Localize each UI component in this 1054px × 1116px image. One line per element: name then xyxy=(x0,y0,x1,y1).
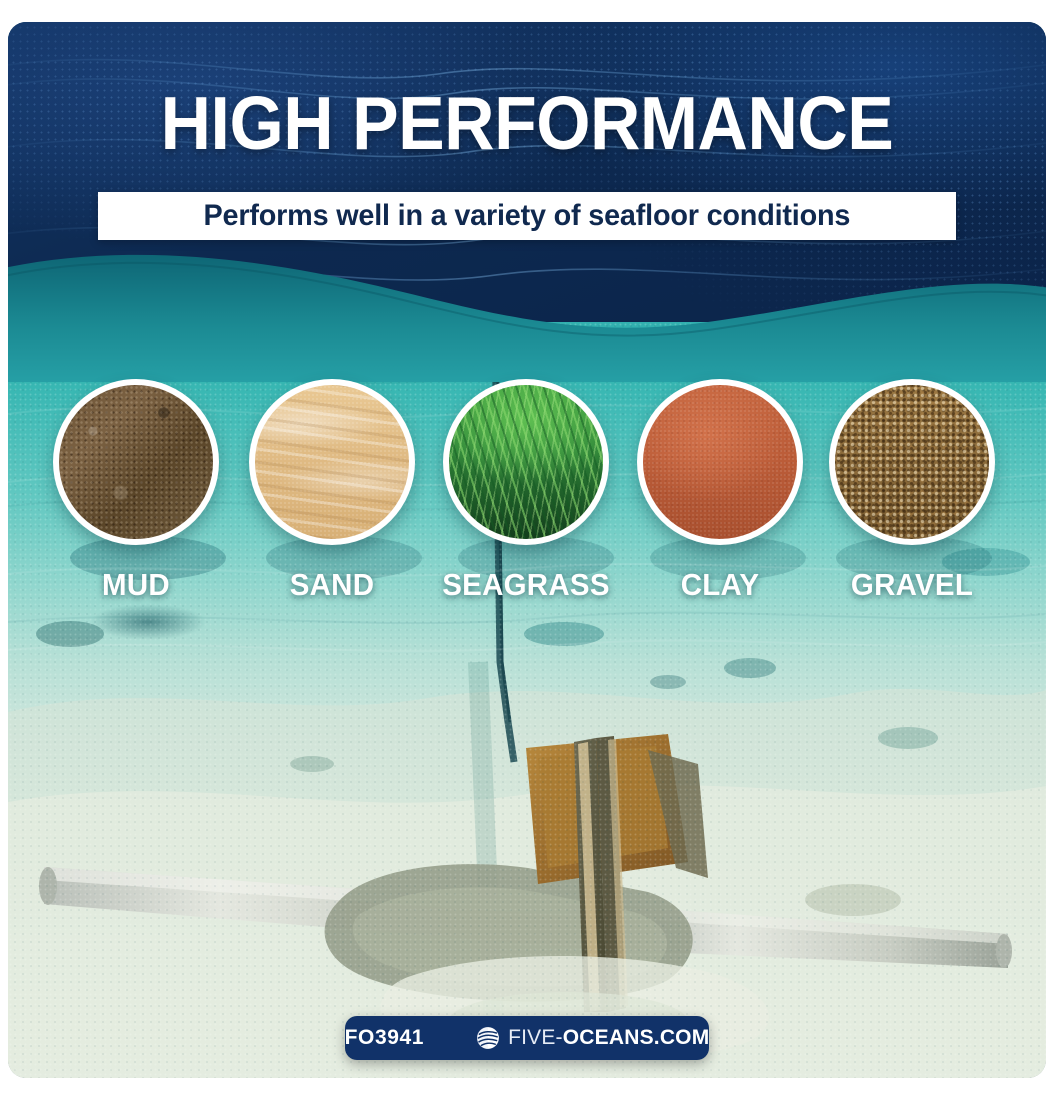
swatch-label-mud: MUD xyxy=(43,567,229,603)
gravel-texture-icon xyxy=(835,385,989,539)
swatch-label-gravel: GRAVEL xyxy=(819,567,1005,603)
sku-code: FO3941 xyxy=(345,1026,424,1050)
swatch-label-clay: CLAY xyxy=(627,567,813,603)
swatch-inner-mud xyxy=(59,385,213,539)
swatch-inner-clay xyxy=(643,385,797,539)
swatch-item-mud[interactable]: MUD xyxy=(38,379,234,603)
swatch-item-clay[interactable]: CLAY xyxy=(622,379,818,603)
page-title: HIGH PERFORMANCE xyxy=(44,84,1009,162)
swatch-disc-clay xyxy=(637,379,803,545)
brand-name-light: FIVE- xyxy=(508,1026,563,1049)
seagrass-texture-icon xyxy=(449,385,603,539)
seafloor-conditions-row: MUD SAND SEAGRASS xyxy=(8,379,1046,609)
swatch-item-gravel[interactable]: GRAVEL xyxy=(814,379,1010,603)
swatch-inner-sand xyxy=(255,385,409,539)
subtitle-text: Performs well in a variety of seafloor c… xyxy=(204,199,851,233)
subtitle-bar: Performs well in a variety of seafloor c… xyxy=(98,192,956,240)
clay-texture-icon xyxy=(643,385,797,539)
footer-badge: FO3941 FIVE-OCEANS.COM xyxy=(345,1016,709,1060)
brand-name-bold: OCEANS.COM xyxy=(563,1026,710,1049)
swatch-inner-gravel xyxy=(835,385,989,539)
swatch-item-sand[interactable]: SAND xyxy=(234,379,430,603)
header-dot-mesh xyxy=(8,22,1046,322)
swatch-inner-seagrass xyxy=(449,385,603,539)
globe-wave-icon xyxy=(476,1026,500,1050)
brand-name: FIVE-OCEANS.COM xyxy=(508,1026,709,1050)
infographic-card: HIGH PERFORMANCE Performs well in a vari… xyxy=(8,22,1046,1078)
swatch-item-seagrass[interactable]: SEAGRASS xyxy=(428,379,624,603)
swatch-disc-sand xyxy=(249,379,415,545)
swatch-disc-seagrass xyxy=(443,379,609,545)
infographic-canvas: HIGH PERFORMANCE Performs well in a vari… xyxy=(0,0,1054,1116)
header-panel: HIGH PERFORMANCE Performs well in a vari… xyxy=(8,22,1046,322)
swatch-label-seagrass: SEAGRASS xyxy=(433,567,619,603)
sand-texture-icon xyxy=(255,385,409,539)
brand-lockup[interactable]: FIVE-OCEANS.COM xyxy=(476,1026,709,1050)
header-bottom-wave-cutout xyxy=(8,22,1046,322)
header-wave-lines xyxy=(8,22,1046,322)
swatch-disc-mud xyxy=(53,379,219,545)
swatch-disc-gravel xyxy=(829,379,995,545)
swatch-label-sand: SAND xyxy=(239,567,425,603)
mud-texture-icon xyxy=(59,385,213,539)
